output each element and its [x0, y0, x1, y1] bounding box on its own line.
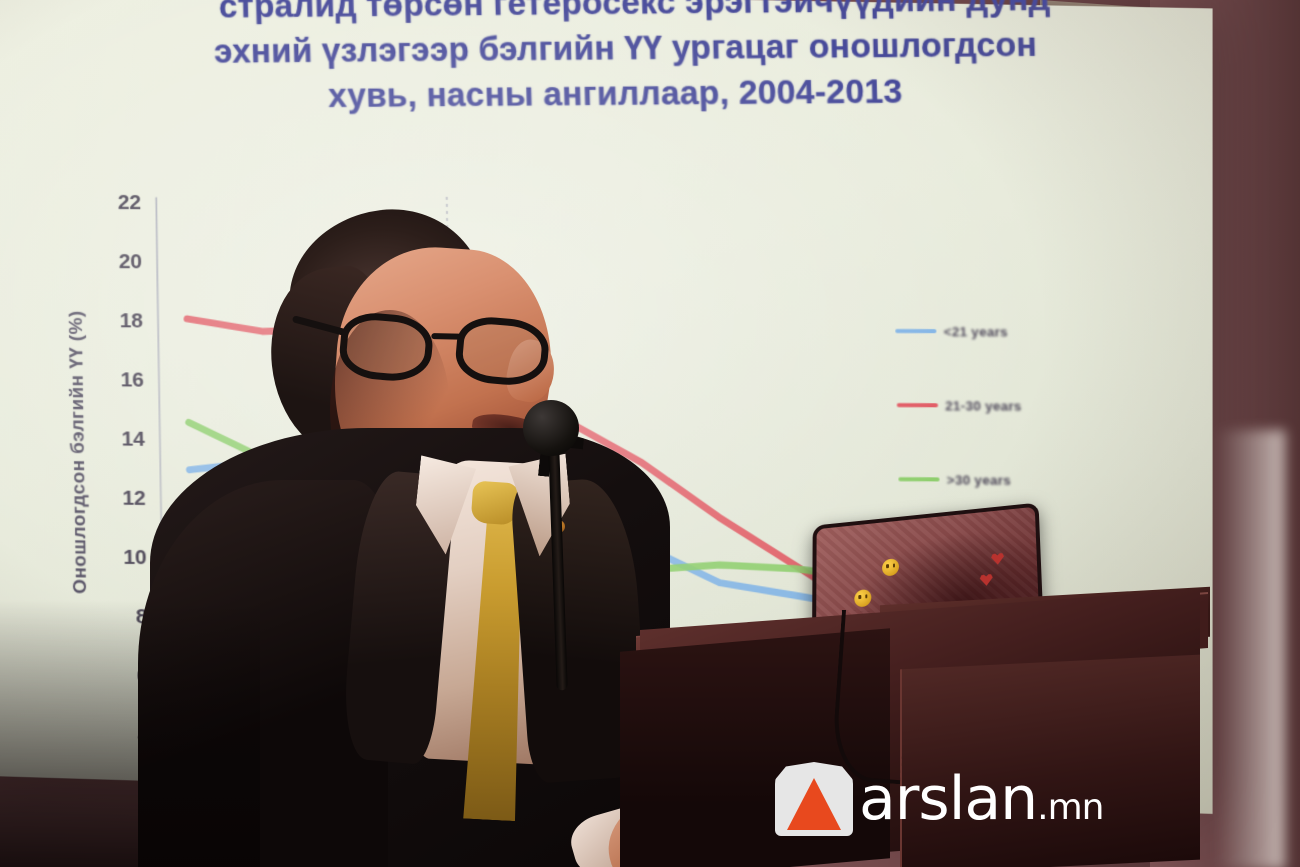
- legend-item: 21-30 years: [897, 392, 1166, 420]
- screenshot-stage: стралид төрсөн гетеросекс эрэгтэйчүүдийн…: [0, 0, 1300, 867]
- legend-label: 21-30 years: [945, 398, 1022, 414]
- glasses-lens-left: [337, 310, 434, 384]
- arslan-logo-icon: [775, 762, 853, 836]
- glasses-lens-right: [454, 314, 551, 388]
- watermark: arslan.mn: [775, 760, 1285, 838]
- watermark-brand: arslan.mn: [859, 769, 1104, 829]
- microphone-cable: [830, 610, 912, 784]
- legend-label: <21 years: [943, 324, 1008, 339]
- watermark-tld-text: .mn: [1037, 787, 1103, 828]
- legend-swatch-icon: [895, 329, 936, 333]
- legend-swatch-icon: [897, 403, 938, 407]
- slide-title: стралид төрсөн гетеросекс эрэгтэйчүүдийн…: [98, 0, 1162, 120]
- legend-swatch-icon: [898, 477, 939, 481]
- microphone-icon[interactable]: [523, 400, 579, 456]
- legend-item: <21 years: [895, 318, 1164, 345]
- watermark-brand-text: arslan: [859, 764, 1037, 834]
- foreground-shadow: [0, 600, 260, 867]
- legend-item: >30 years: [898, 466, 1167, 494]
- slide-title-line-2: эхний үзлэгээр бэлгийн ҮҮ ургацаг оношло…: [94, 20, 1161, 75]
- legend-label: >30 years: [947, 472, 1012, 488]
- slide-title-line-3: хувь, насны ангиллаар, 2004-2013: [75, 66, 1163, 120]
